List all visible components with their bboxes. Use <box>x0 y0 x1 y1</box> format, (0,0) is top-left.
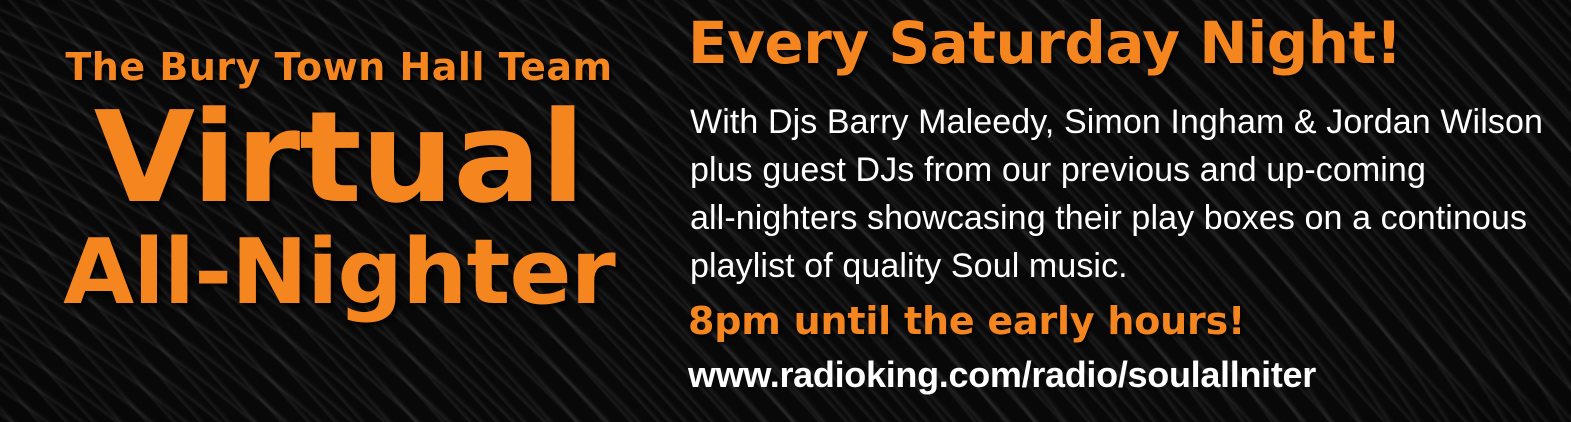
description-text: With Djs Barry Maleedy, Simon Ingham & J… <box>690 98 1550 290</box>
schedule-headline: Every Saturday Night! <box>688 14 1402 72</box>
event-title-line-1: Virtual <box>0 95 692 221</box>
soul-allnighter-banner: The Bury Town Hall Team Virtual All-Nigh… <box>0 0 1571 422</box>
description-line-3: all-nighters showcasing their play boxes… <box>690 194 1550 242</box>
description-line-2: plus guest DJs from our previous and up-… <box>690 146 1550 194</box>
station-url[interactable]: www.radioking.com/radio/soulallniter <box>688 357 1316 393</box>
banner-content: The Bury Town Hall Team Virtual All-Nigh… <box>0 0 1571 422</box>
event-title-line-2: All-Nighter <box>0 228 685 318</box>
team-name-line: The Bury Town Hall Team <box>0 48 678 86</box>
description-line-4: playlist of quality Soul music. <box>690 242 1550 290</box>
description-line-1: With Djs Barry Maleedy, Simon Ingham & J… <box>690 98 1550 146</box>
right-info-block: Every Saturday Night! With Djs Barry Mal… <box>688 0 1571 422</box>
broadcast-time-line: 8pm until the early hours! <box>688 302 1245 340</box>
left-title-block: The Bury Town Hall Team Virtual All-Nigh… <box>0 0 678 422</box>
